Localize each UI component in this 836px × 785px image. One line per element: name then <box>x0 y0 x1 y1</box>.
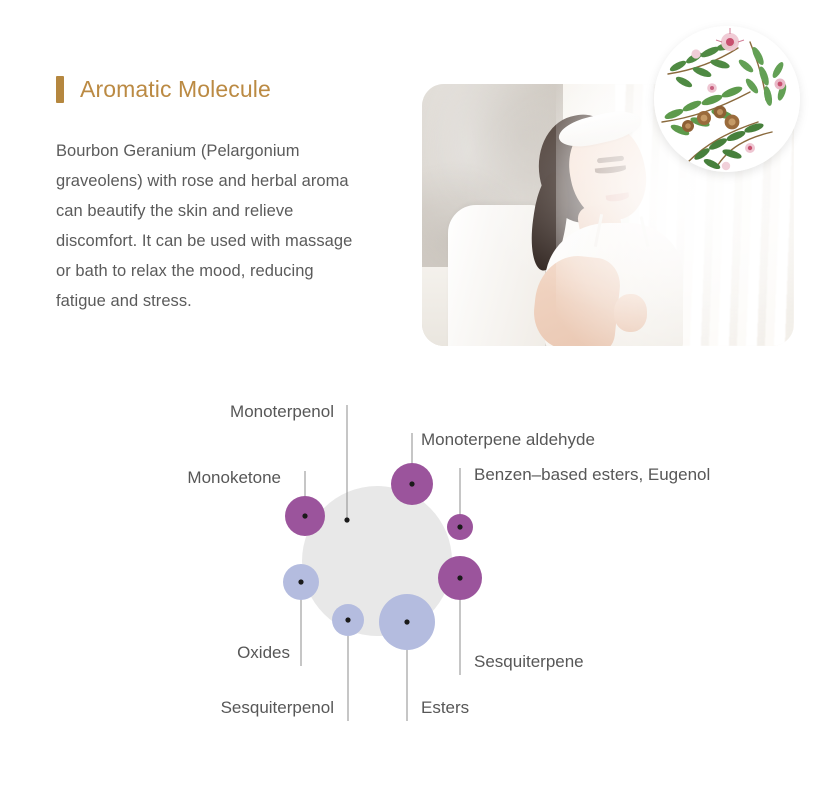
bubble-center-dot <box>409 481 414 486</box>
bubble-center-dot <box>302 513 307 518</box>
page-title: Aromatic Molecule <box>80 76 271 103</box>
photo-area <box>422 84 794 346</box>
bubble-label: Sesquiterpenol <box>221 698 334 717</box>
aromatic-molecule-page: Aromatic Molecule Bourbon Geranium (Pela… <box>0 0 836 785</box>
bubble-center-dot <box>345 617 350 622</box>
bubble-center-dot <box>344 517 349 522</box>
bubble-group-7[interactable]: Esters <box>379 594 469 721</box>
description-text: Bourbon Geranium (Pelargonium graveolens… <box>56 136 361 316</box>
bubble-label: Esters <box>421 698 469 717</box>
bubble-label: Oxides <box>237 643 290 662</box>
page-title-row: Aromatic Molecule <box>56 72 396 106</box>
bubble-label: Benzen–based esters, Eugenol <box>474 465 710 484</box>
botanical-inset <box>654 26 800 172</box>
bubble-group-4[interactable]: Sesquiterpene <box>438 556 584 675</box>
bubble-center-dot <box>404 619 409 624</box>
info-block: Aromatic Molecule Bourbon Geranium (Pela… <box>56 72 396 316</box>
bubble-label: Sesquiterpene <box>474 652 584 671</box>
title-accent-bar <box>56 76 64 103</box>
bubble-center-dot <box>457 575 462 580</box>
bubble-center-dot <box>298 579 303 584</box>
bubble-group-1[interactable]: Monoketone <box>187 468 325 536</box>
bubble-label: Monoterpene aldehyde <box>421 430 595 449</box>
bubble-group-5[interactable]: Oxides <box>237 564 319 666</box>
bubble-group-6[interactable]: Sesquiterpenol <box>221 604 364 721</box>
bubble-group-3[interactable]: Benzen–based esters, Eugenol <box>447 465 710 540</box>
bubble-label: Monoterpenol <box>230 402 334 421</box>
botanical-illustration-icon <box>654 26 800 172</box>
bubble-center-dot <box>457 524 462 529</box>
aromatic-molecule-bubble-chart: MonoterpenolMonoketoneMonoterpene aldehy… <box>0 375 836 735</box>
bubble-label: Monoketone <box>187 468 281 487</box>
